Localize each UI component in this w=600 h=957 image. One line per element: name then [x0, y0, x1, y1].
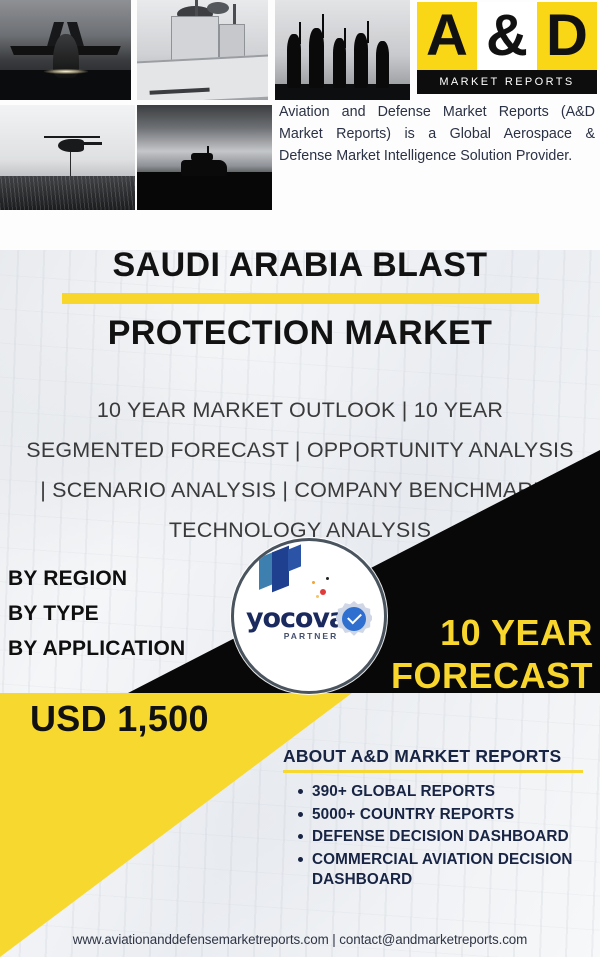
footer-contact: www.aviationanddefensemarketreports.com … — [0, 932, 600, 947]
naval-carrier-photo — [137, 0, 268, 100]
segment-by-region: BY REGION — [8, 561, 248, 596]
list-item: 5000+ COUNTRY REPORTS — [312, 805, 591, 826]
logo-subtitle-bar: MARKET REPORTS — [417, 70, 597, 94]
yocova-partner-badge: yocova PARTNER — [231, 538, 387, 694]
report-title: SAUDI ARABIA BLAST PROTECTION MARKET — [0, 243, 600, 355]
about-underline-rule — [283, 770, 583, 773]
yocova-chevron-icon — [259, 549, 301, 587]
verified-check-icon — [336, 601, 372, 637]
title-underline-rule — [62, 293, 539, 304]
logo-letters: A & D — [417, 2, 597, 70]
ad-market-reports-logo: A & D MARKET REPORTS — [417, 2, 597, 94]
armored-vehicle-photo — [137, 105, 272, 210]
report-title-line-2: PROTECTION MARKET — [0, 311, 600, 355]
logo-letter-a: A — [417, 2, 477, 70]
list-item: COMMERCIAL AVIATION DECISION DASHBOARD — [312, 850, 591, 891]
segment-by-application: BY APPLICATION — [8, 631, 248, 666]
logo-subtitle-text: MARKET REPORTS — [439, 76, 574, 88]
report-title-line-1: SAUDI ARABIA BLAST — [0, 243, 600, 287]
segmentation-list: BY REGION BY TYPE BY APPLICATION — [8, 561, 248, 666]
logo-letter-d: D — [537, 2, 597, 70]
report-price: USD 1,500 — [30, 698, 280, 740]
company-intro-paragraph: Aviation and Defense Market Reports (A&D… — [279, 101, 595, 167]
yocova-brand-text: yocova — [245, 603, 347, 634]
soldiers-silhouette-photo — [275, 0, 410, 100]
about-bullet-list: 390+ GLOBAL REPORTS 5000+ COUNTRY REPORT… — [283, 782, 591, 891]
about-section: ABOUT A&D MARKET REPORTS 390+ GLOBAL REP… — [283, 746, 591, 893]
about-heading: ABOUT A&D MARKET REPORTS — [283, 746, 591, 767]
segment-by-type: BY TYPE — [8, 596, 248, 631]
list-item: 390+ GLOBAL REPORTS — [312, 782, 591, 803]
report-poster: A & D MARKET REPORTS Aviation and Defens… — [0, 0, 600, 957]
fighter-jet-photo — [0, 0, 131, 100]
logo-ampersand: & — [477, 2, 537, 70]
helicopter-photo — [0, 105, 135, 210]
list-item: DEFENSE DECISION DASHBOARD — [312, 827, 591, 848]
